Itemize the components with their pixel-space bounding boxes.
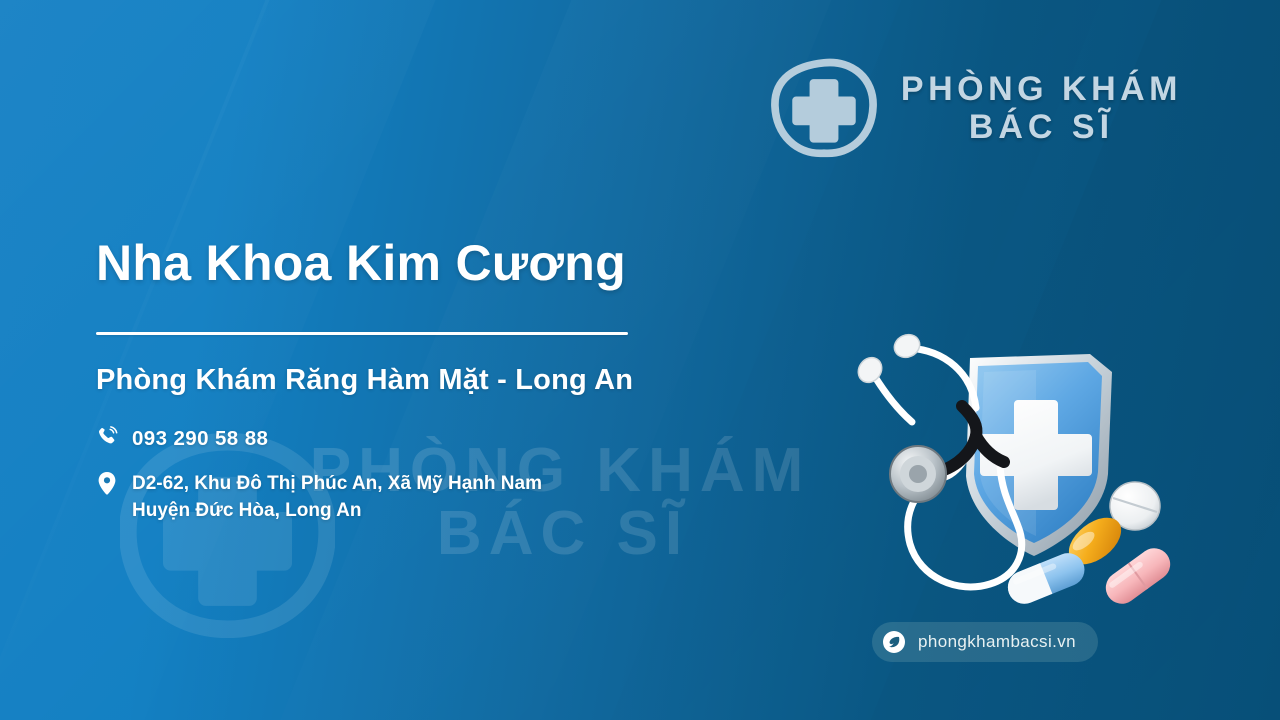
divider — [96, 332, 628, 335]
address-row[interactable]: D2-62, Khu Đô Thị Phúc An, Xã Mỹ Hạnh Na… — [96, 470, 856, 525]
clinic-info-block: Nha Khoa Kim Cương Phòng Khám Răng Hàm M… — [96, 236, 856, 525]
address-line-2: Huyện Đức Hòa, Long An — [132, 497, 542, 525]
medical-illustration — [850, 326, 1186, 626]
brand-logo-line-2: BÁC SĨ — [901, 108, 1182, 146]
website-url: phongkhambacsi.vn — [918, 632, 1076, 652]
phone-number: 093 290 58 88 — [132, 424, 268, 454]
brand-logo-text: PHÒNG KHÁM BÁC SĨ — [901, 70, 1182, 146]
website-badge[interactable]: phongkhambacsi.vn — [872, 622, 1098, 662]
address-text: D2-62, Khu Đô Thị Phúc An, Xã Mỹ Hạnh Na… — [132, 470, 542, 525]
pill-blue-white-capsule — [1003, 548, 1090, 609]
clinic-name: Nha Khoa Kim Cương — [96, 236, 856, 291]
phone-row[interactable]: 093 290 58 88 — [96, 424, 856, 454]
phone-ringing-icon — [96, 424, 118, 447]
clinic-banner: PHÒNG KHÁM BÁC SĨ PHÒNG KHÁM BÁC SĨ Nha … — [0, 0, 1280, 720]
globe-icon — [882, 630, 906, 654]
address-line-1: D2-62, Khu Đô Thị Phúc An, Xã Mỹ Hạnh Na… — [132, 470, 542, 498]
medical-cross-blob-icon — [769, 58, 879, 158]
brand-logo-line-1: PHÒNG KHÁM — [901, 70, 1182, 108]
stethoscope-chestpiece — [890, 446, 946, 502]
pill-pink-capsule — [1099, 542, 1176, 610]
location-pin-icon — [96, 470, 118, 495]
clinic-specialty: Phòng Khám Răng Hàm Mặt - Long An — [96, 364, 856, 397]
stethoscope-earpieces — [854, 331, 924, 387]
brand-logo: PHÒNG KHÁM BÁC SĨ — [769, 58, 1182, 158]
